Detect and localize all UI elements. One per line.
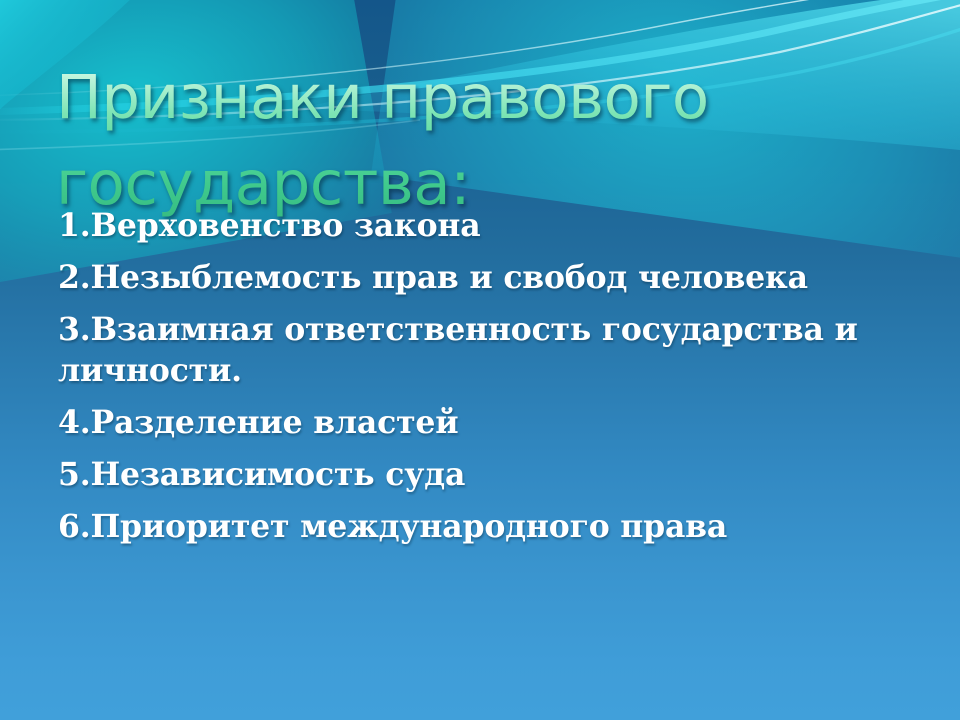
list-item: 6.Приоритет международного права xyxy=(58,507,906,548)
list-item: 4.Разделение властей xyxy=(58,403,906,444)
list-item: 2.Незыблемость прав и свобод человека xyxy=(58,258,906,299)
feature-list: 1.Верховенство закона 2.Незыблемость пра… xyxy=(58,206,906,548)
list-item: 3.Взаимная ответственность государства и… xyxy=(58,310,906,392)
slide-title: Признаки правового государства: xyxy=(56,55,916,228)
list-item: 5.Независимость суда xyxy=(58,455,906,496)
list-item: 1.Верховенство закона xyxy=(58,206,906,247)
presentation-slide: Признаки правового государства: 1.Верхов… xyxy=(0,0,960,720)
